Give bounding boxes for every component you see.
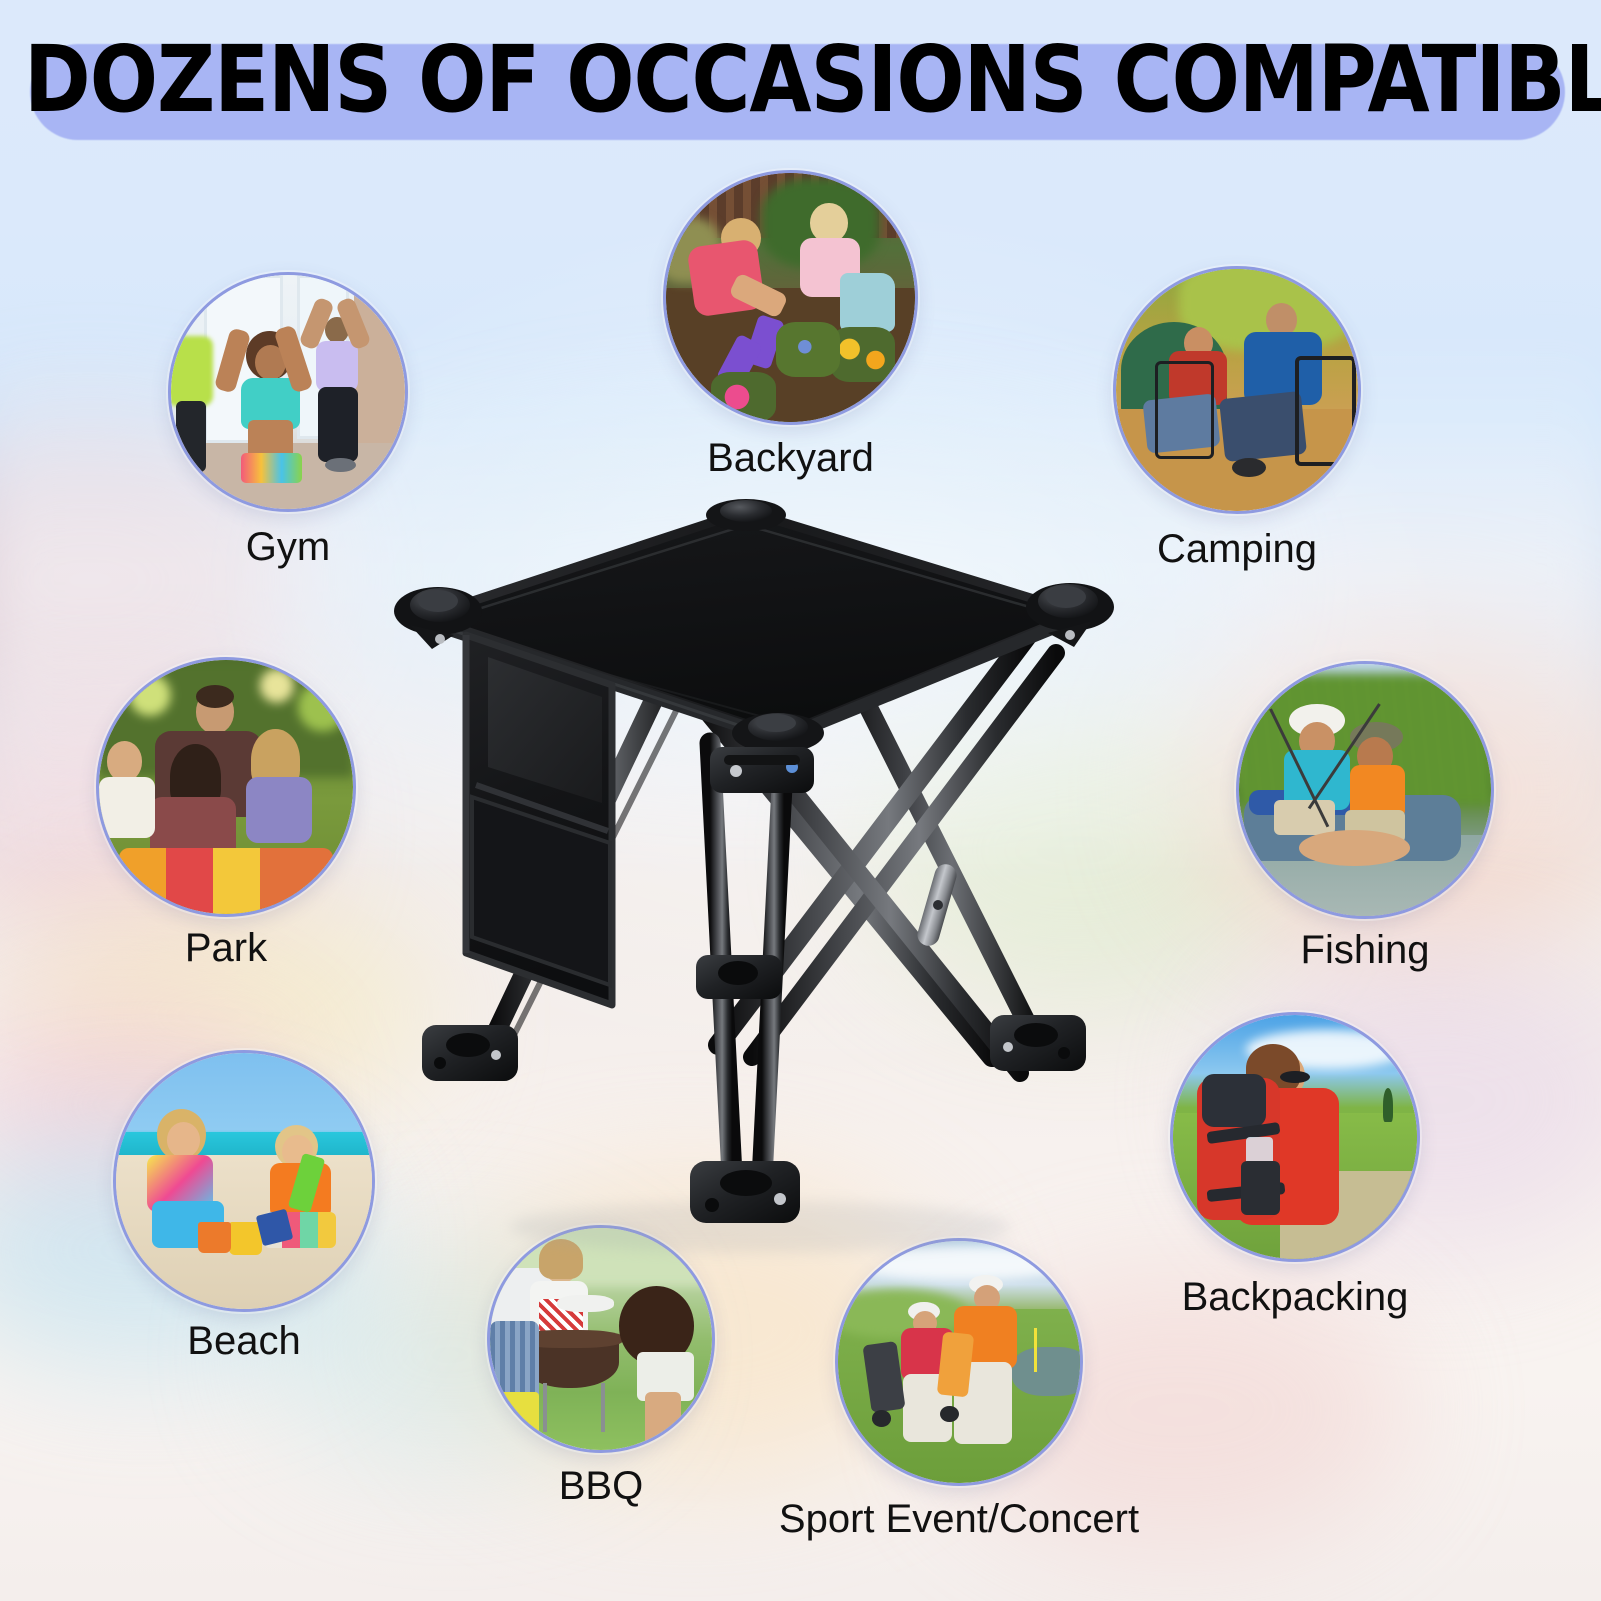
sport-event-photo [838,1241,1080,1483]
fishing-photo-ring [1236,661,1494,919]
camping-photo [1116,269,1358,511]
park-toddler-shirt [99,777,155,838]
backpacking-backpack-top [1202,1074,1265,1128]
park-blanket [119,848,332,914]
backpacking-bottle-pocket [1241,1161,1280,1215]
stool-foot-right [990,1015,1086,1071]
header: DOZENS OF OCCASIONS COMPATIBLE [0,0,1601,165]
sport-pond [1012,1347,1080,1395]
occasion-camping[interactable]: Camping [1113,266,1361,514]
bbq-person-right-leg [645,1392,681,1450]
stool-foot-front [690,1161,800,1223]
backyard-watering-can [840,273,895,333]
backyard-flowers-pink [711,372,776,422]
park-girl-shirt [246,777,312,843]
occasion-sport-event[interactable]: Sport Event/Concert [835,1238,1083,1486]
backpacking-photo [1173,1015,1417,1259]
sport-golf-bag-right [936,1331,974,1397]
gym-shoe [325,458,355,472]
beach-bucket-orange [198,1222,231,1253]
backyard-girl-head [810,203,847,243]
gym-person-green-leg [176,401,206,471]
occasion-gym[interactable]: Gym [168,272,408,512]
park-photo [99,660,353,914]
backpacking-cypress [1383,1088,1393,1122]
gym-photo [171,275,405,509]
park-photo-ring [96,657,356,917]
gym-woman-back-top [316,341,358,392]
occasion-label-sport-event: Sport Event/Concert [715,1496,1203,1542]
backyard-flowers-blue [776,322,841,377]
gym-person-green-sleeve [171,336,213,406]
camping-chair-left [1155,361,1214,459]
beach-sea [116,1132,372,1158]
park-toddler-head [107,741,143,782]
bbq-cooler [494,1392,538,1436]
beach-photo [116,1053,372,1309]
backpacking-sunglasses [1280,1071,1309,1083]
stool-lock-sleeve [915,862,959,949]
camping-photo-ring [1113,266,1361,514]
beach-bucket-yellow [229,1222,262,1255]
backpacking-photo-ring [1170,1012,1420,1262]
camping-chair-right [1295,356,1356,466]
occasion-beach[interactable]: Beach [113,1050,375,1312]
bbq-plate [557,1295,615,1313]
occasion-label-beach: Beach [0,1318,495,1364]
sport-event-photo-ring [835,1238,1083,1486]
beach-photo-ring [113,1050,375,1312]
stool-corner-cap-back [706,499,786,531]
gym-photo-ring [168,272,408,512]
occasion-backpacking[interactable]: Backpacking [1170,1012,1420,1262]
occasion-backyard[interactable]: Backyard [663,170,918,425]
stool-front-hub [710,747,814,793]
sport-flagstick [1034,1328,1037,1372]
occasion-label-backyard: Backyard [543,435,1038,481]
infographic-canvas: DOZENS OF OCCASIONS COMPATIBLE [0,0,1601,1601]
product-folding-stool [380,485,1120,1275]
backyard-flowers-yellow [830,327,895,382]
occasion-label-backpacking: Backpacking [1050,1274,1540,1320]
bbq-grill-legs [543,1383,604,1432]
occasion-fishing[interactable]: Fishing [1236,661,1494,919]
fishing-photo [1239,664,1491,916]
backyard-photo-ring [663,170,918,425]
occasion-label-fishing: Fishing [1116,927,1601,973]
stool-foot-left [422,1025,518,1081]
stool-side-pocket [466,635,612,1005]
camping-shoe [1232,458,1266,477]
occasion-park[interactable]: Park [96,657,356,917]
gym-wall [354,275,405,453]
page-title: DOZENS OF OCCASIONS COMPATIBLE [24,26,1577,134]
park-father-hair [196,685,234,708]
backyard-photo [666,173,915,422]
stool-mid-hub [696,955,782,999]
fishing-legs [1299,830,1410,865]
gym-woman-front-shorts [241,453,302,483]
gym-woman-back-legs [318,387,358,462]
